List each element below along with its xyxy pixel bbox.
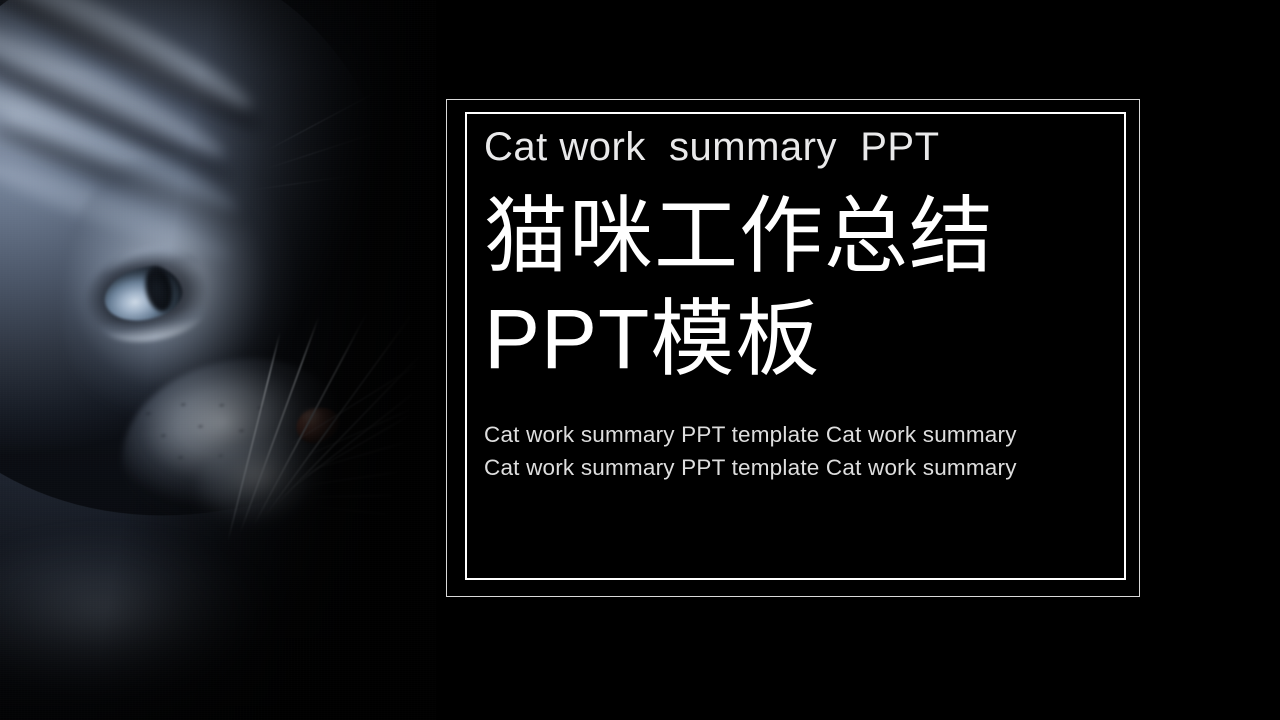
title-text-block: Cat work summary PPT 猫咪工作总结 PPT模板 Cat wo… <box>484 126 1104 485</box>
page-title: 猫咪工作总结 PPT模板 <box>484 185 1104 390</box>
eyebrow-text: Cat work summary PPT <box>484 126 1104 169</box>
cat-photo <box>0 0 436 720</box>
photo-grain <box>0 0 436 720</box>
title-slide: Cat work summary PPT 猫咪工作总结 PPT模板 Cat wo… <box>0 0 1280 720</box>
subtitle-text: Cat work summary PPT template Cat work s… <box>484 418 1104 485</box>
